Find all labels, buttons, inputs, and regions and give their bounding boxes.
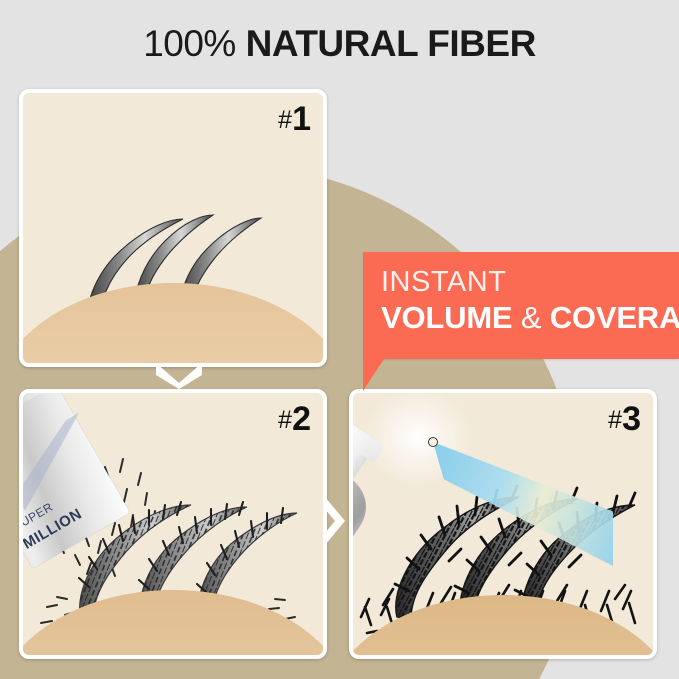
page-title: 100% NATURAL FIBER — [0, 22, 679, 66]
badge-number: 3 — [622, 400, 641, 438]
infographic-stage: 100% NATURAL FIBER — [0, 0, 679, 679]
badge-hash: # — [278, 106, 292, 134]
step-panel-2: MILLION SUPER — [19, 389, 327, 659]
banner-line-2: VOLUME & COVERAGE — [381, 300, 679, 336]
title-percent: 100% — [143, 23, 236, 64]
banner-tail — [363, 359, 384, 391]
banner-volume-text: VOLUME — [381, 300, 512, 335]
badge-hash: # — [278, 406, 292, 434]
banner-coverage-text: COVERAGE — [550, 300, 679, 335]
chevron-down-icon — [152, 359, 206, 389]
banner-ampersand: & — [521, 300, 541, 335]
instant-volume-banner: INSTANT VOLUME & COVERAGE — [363, 252, 679, 359]
badge-hash: # — [608, 406, 622, 434]
badge-number: 2 — [292, 400, 311, 438]
chevron-right-icon — [322, 494, 348, 548]
banner-line-1: INSTANT — [381, 266, 506, 299]
step-badge-3: #3 — [608, 399, 641, 440]
spray-outlet-icon — [428, 437, 438, 447]
badge-number: 1 — [292, 100, 311, 138]
step-badge-1: #1 — [278, 99, 311, 140]
step-panel-3: SUPER HAIR — [349, 389, 657, 659]
step-badge-2: #2 — [278, 399, 311, 440]
title-main: NATURAL FIBER — [246, 23, 536, 64]
step-panel-1: #1 — [19, 89, 327, 367]
